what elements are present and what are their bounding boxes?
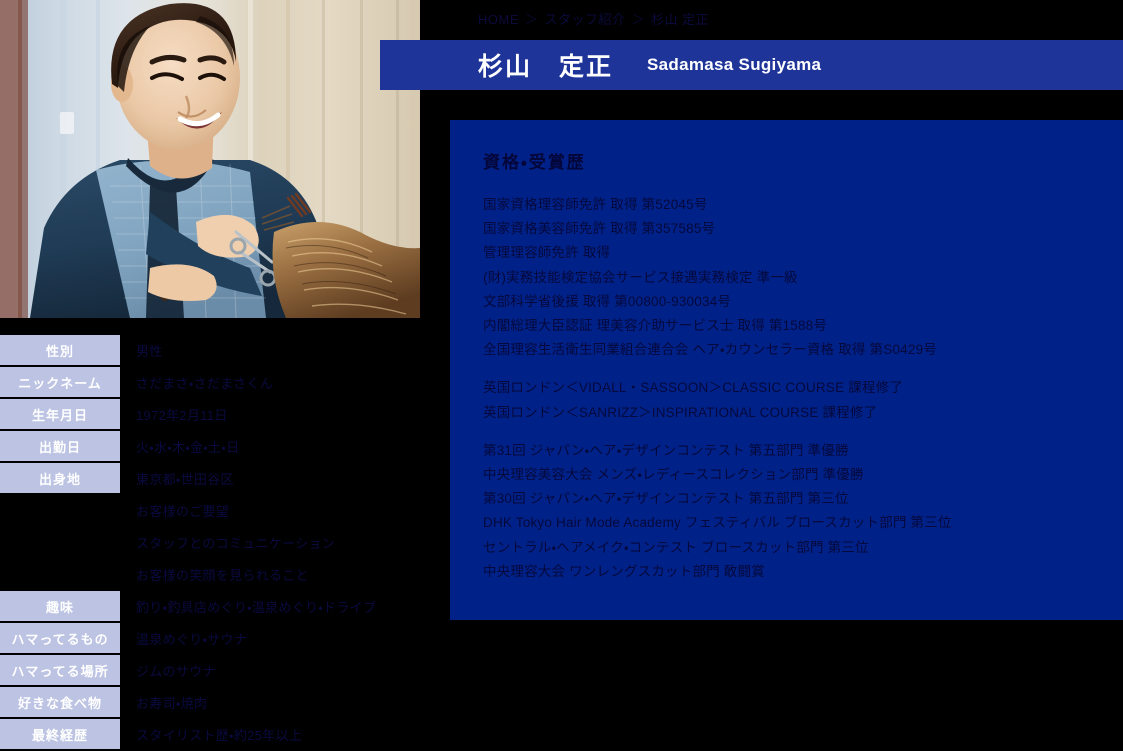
profile-row: 趣味釣り・釣具店めぐり・温泉めぐり・ドライブ [0,591,450,621]
profile-row: お客様の笑顔を見られること [0,559,450,589]
profile-label: 性別 [0,335,120,365]
qualification-item: 国家資格美容師免許 取得 第357585号 [483,217,1123,241]
profile-value: お客様の笑顔を見られること [120,559,450,589]
profile-value: ジムのサウナ [120,655,450,685]
qualifications-spacer [483,425,1123,439]
profile-value: 釣り・釣具店めぐり・温泉めぐり・ドライブ [120,591,450,621]
qualifications-list: 国家資格理容師免許 取得 第52045号国家資格美容師免許 取得 第357585… [483,193,1123,584]
qualifications-spacer [483,362,1123,376]
profile-value: 男性 [120,335,450,365]
profile-label: 出勤日 [0,431,120,461]
profile-row: お客様のご要望 [0,495,450,525]
profile-label: 趣味 [0,591,120,621]
profile-value: スタッフとのコミュニケーション [120,527,450,557]
staff-name-jp: 杉山 定正 [478,47,613,83]
profile-value: 火・水・木・金・土・日 [120,431,450,461]
qualification-item: 第30回 ジャパン・ヘア・デザインコンテスト 第五部門 第三位 [483,487,1123,511]
qualification-item: 第31回 ジャパン・ヘア・デザインコンテスト 第五部門 準優勝 [483,439,1123,463]
breadcrumb-separator: ＞ [525,9,539,31]
profile-label-blank [0,559,120,589]
qualification-item: 英国ロンドン＜VIDALL・SASSOON＞CLASSIC COURSE 課程修… [483,376,1123,400]
qualification-item: セントラル・ヘアメイク・コンテスト ブロースカット部門 第三位 [483,536,1123,560]
profile-label: ハマってる場所 [0,655,120,685]
stylist-photo [0,0,420,318]
profile-row: スタッフとのコミュニケーション [0,527,450,557]
profile-row: 生年月日1972年2月11日 [0,399,450,429]
qualification-item: 国家資格理容師免許 取得 第52045号 [483,193,1123,217]
qualification-item: 文部科学省後援 取得 第00800-930034号 [483,290,1123,314]
profile-row: ハマってる場所ジムのサウナ [0,655,450,685]
qualifications-title: 資格・受賞歴 [483,148,1123,173]
staff-name-en: Sadamasa Sugiyama [647,55,821,75]
breadcrumb-separator: ＞ [632,9,646,31]
qualification-item: (財)実務技能検定協会サービス接遇実務検定 準一級 [483,266,1123,290]
profile-label: 出身地 [0,463,120,493]
profile-row: 出身地東京都・世田谷区 [0,463,450,493]
profile-value: スタイリスト歴・約25年以上 [120,719,450,749]
qualification-item: DHK Tokyo Hair Mode Academy フェスティバル ブロース… [483,511,1123,535]
profile-label: 好きな食べ物 [0,687,120,717]
qualification-item: 英国ロンドン＜SANRIZZ＞INSPIRATIONAL COURSE 課程修了 [483,401,1123,425]
profile-value: 温泉めぐり・サウナ [120,623,450,653]
qualification-item: 全国理容生活衛生同業組合連合会 ヘア・カウンセラー資格 取得 第S0429号 [483,338,1123,362]
profile-table: 性別男性ニックネームさだまさ・さだまさくん生年月日1972年2月11日出勤日火・… [0,335,450,751]
breadcrumb-item-staff[interactable]: スタッフ紹介 [545,9,626,31]
qualifications-panel: 資格・受賞歴 国家資格理容師免許 取得 第52045号国家資格美容師免許 取得 … [450,120,1123,620]
breadcrumb: HOME ＞ スタッフ紹介 ＞ 杉山 定正 [478,9,709,31]
profile-row: 最終経歴スタイリスト歴・約25年以上 [0,719,450,749]
breadcrumb-item-current: 杉山 定正 [651,9,709,31]
profile-label: ハマってるもの [0,623,120,653]
profile-row: ハマってるもの温泉めぐり・サウナ [0,623,450,653]
qualification-item: 管理理容師免許 取得 [483,241,1123,265]
profile-row: 好きな食べ物お寿司・焼肉 [0,687,450,717]
profile-row: ニックネームさだまさ・さだまさくん [0,367,450,397]
profile-label: 生年月日 [0,399,120,429]
qualification-item: 中央理容美容大会 メンズ・レディースコレクション部門 準優勝 [483,463,1123,487]
qualification-item: 中央理容大会 ワンレングスカット部門 敢闘賞 [483,560,1123,584]
profile-value: 東京都・世田谷区 [120,463,450,493]
qualification-item: 内閣総理大臣認証 理美容介助サービス士 取得 第1588号 [483,314,1123,338]
profile-value: さだまさ・さだまさくん [120,367,450,397]
profile-row: 出勤日火・水・木・金・土・日 [0,431,450,461]
profile-label: ニックネーム [0,367,120,397]
profile-row: 性別男性 [0,335,450,365]
staff-profile-page: HOME ＞ スタッフ紹介 ＞ 杉山 定正 [0,0,1123,747]
profile-label-blank [0,495,120,525]
profile-label: 最終経歴 [0,719,120,749]
breadcrumb-item-home[interactable]: HOME [478,9,519,31]
profile-value: お客様のご要望 [120,495,450,525]
profile-label-blank [0,527,120,557]
staff-name-bar: 杉山 定正 Sadamasa Sugiyama [380,40,1123,90]
stylist-photo-image [0,0,420,318]
profile-value: 1972年2月11日 [120,399,450,429]
profile-value: お寿司・焼肉 [120,687,450,717]
